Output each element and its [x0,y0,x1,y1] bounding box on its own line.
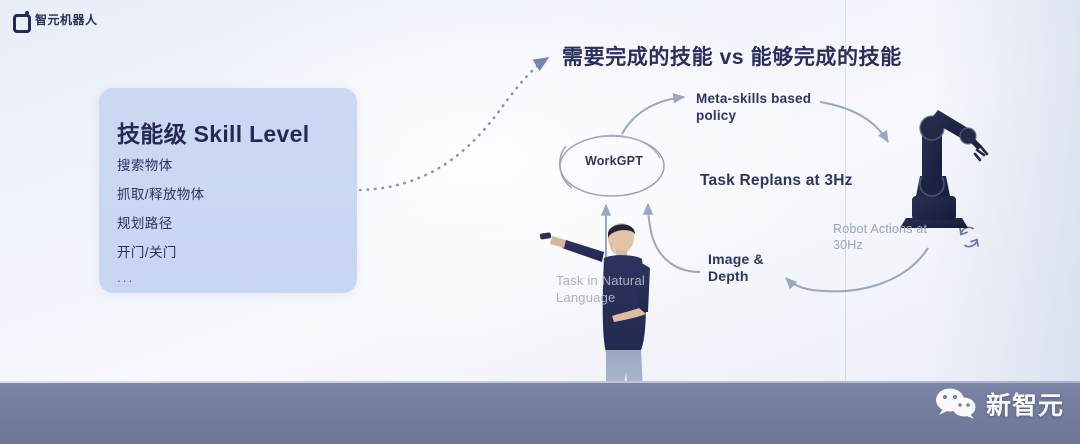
skill-card-title: 技能级 Skill Level [117,115,309,149]
list-item: 抓取/释放物体 [117,183,205,203]
workgpt-node-label: WorkGPT [576,154,652,168]
stage-floor [0,381,1080,444]
wall-right-shading [930,0,1080,381]
slide-headline: 需要完成的技能 vs 能够完成的技能 [562,41,902,71]
brand-name: 智元机器人 [35,11,98,28]
robot-actions-label: Robot Actions at 30Hz [833,221,953,253]
list-item: 开门/关门 [117,241,205,261]
list-item: 规划路径 [117,212,205,232]
task-replans-label: Task Replans at 3Hz [700,172,853,190]
image-depth-label: Image & Depth [708,251,798,285]
watermark: 新智元 [934,386,1064,422]
list-ellipsis: ... [117,270,205,285]
watermark-text: 新智元 [986,386,1064,422]
task-natural-language-label: Task in Natural Language [556,272,676,306]
skill-level-card: 技能级 Skill Level 搜索物体 抓取/释放物体 规划路径 开门/关门 … [99,88,357,293]
slide-photo: 智元机器人 技能级 Skill Level 搜索物体 抓取/释放物体 规划路径 … [0,0,1080,444]
wechat-icon [934,387,978,421]
brand-logo: 智元机器人 [12,11,98,28]
zhiyuan-logo-icon [12,11,29,28]
list-item: 搜索物体 [117,154,205,174]
meta-skills-policy-label: Meta-skills based policy [696,90,826,124]
floor-wall-edge [0,381,1080,383]
skill-card-list: 搜索物体 抓取/释放物体 规划路径 开门/关门 ... [117,154,205,285]
